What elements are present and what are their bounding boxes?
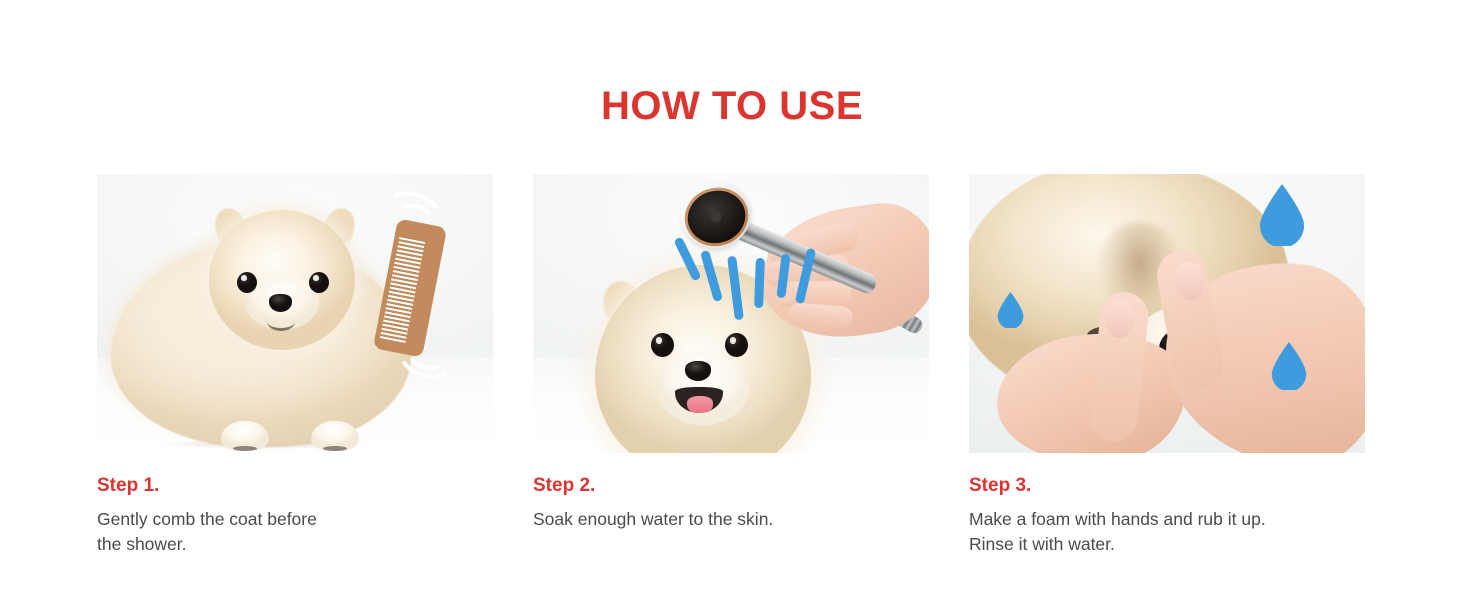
step-card-3: Step 3. Make a foam with hands and rub i… (969, 174, 1365, 557)
step-3-image (969, 174, 1365, 453)
page-title: HOW TO USE (0, 86, 1464, 126)
dog-paw-left (221, 421, 269, 451)
droplet-shape (1271, 342, 1307, 390)
water-stream-line (754, 258, 765, 308)
dog-mouth (267, 312, 295, 331)
how-to-use-page: HOW TO USE (0, 0, 1464, 600)
finger (788, 302, 854, 329)
step-2-label: Step 2. (533, 476, 929, 497)
step-1-caption: Step 1. Gently comb the coat before the … (97, 453, 493, 557)
droplet-shape (997, 292, 1024, 328)
dog-eye-right (309, 272, 329, 293)
droplet-shape (1259, 184, 1305, 246)
dog-eye-left (651, 333, 674, 357)
water-droplet-medium-icon (1271, 342, 1307, 390)
step-card-1: Step 1. Gently comb the coat before the … (97, 174, 493, 557)
water-droplet-large-icon (1259, 184, 1305, 246)
step-2-text: Soak enough water to the skin. (533, 507, 929, 532)
dog-paw-right (311, 421, 359, 451)
dog-tongue (687, 396, 713, 413)
steps-row: Step 1. Gently comb the coat before the … (97, 174, 1367, 557)
step-2-image (533, 174, 929, 453)
step-1-text: Gently comb the coat before the shower. (97, 507, 493, 557)
dog-eye-left (237, 272, 257, 293)
step-card-2: Step 2. Soak enough water to the skin. (533, 174, 929, 557)
water-droplet-small-icon (997, 292, 1024, 328)
step-2-caption: Step 2. Soak enough water to the skin. (533, 453, 929, 532)
dog-eye-right (725, 333, 748, 357)
step-1-label: Step 1. (97, 476, 493, 497)
step-3-label: Step 3. (969, 476, 1365, 497)
step-1-image (97, 174, 493, 453)
step-3-text: Make a foam with hands and rub it up. Ri… (969, 507, 1365, 557)
step-3-caption: Step 3. Make a foam with hands and rub i… (969, 453, 1365, 557)
